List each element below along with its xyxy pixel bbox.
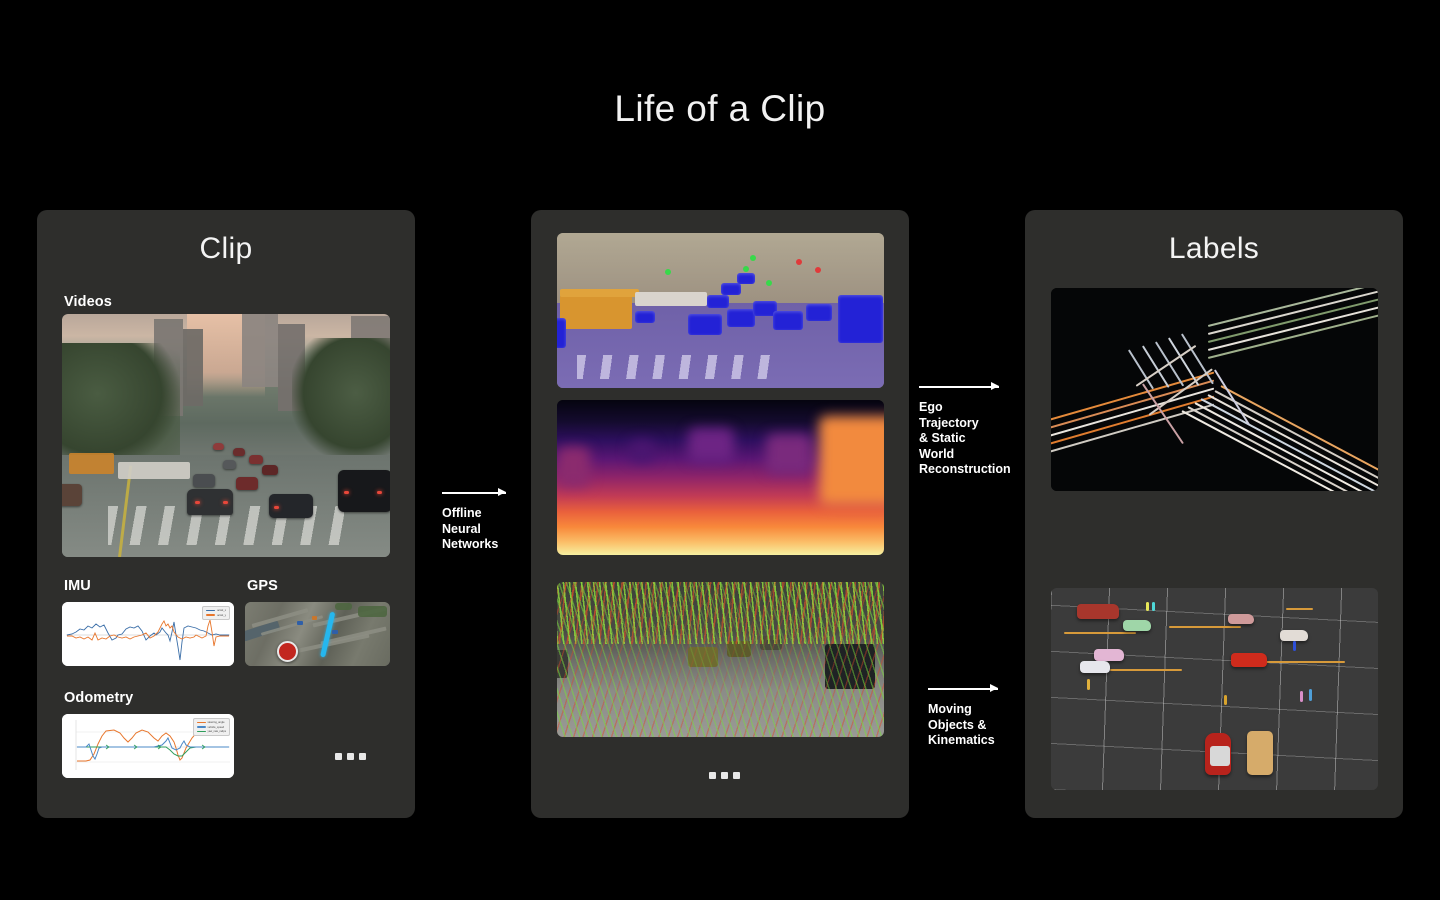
media-moving-objects[interactable] xyxy=(1051,588,1378,790)
ellipsis-dot-1 xyxy=(709,772,716,779)
objects-artwork xyxy=(1051,588,1378,790)
arrow-caption-moving-objects: Moving Objects & Kinematics xyxy=(928,702,998,749)
depth-artwork xyxy=(557,400,884,555)
lane-artwork xyxy=(1051,288,1378,491)
media-odometry-plot[interactable]: steering_angle vehicle_speed yaw_rate_ra… xyxy=(62,714,234,778)
clip-more-indicator[interactable] xyxy=(335,753,366,760)
arrow-icon xyxy=(442,487,506,497)
optical-flow-artwork xyxy=(557,582,884,737)
section-label-imu: IMU xyxy=(64,578,91,594)
panel-clip-title: Clip xyxy=(37,232,415,266)
segmentation-artwork xyxy=(557,233,884,388)
arrow-icon xyxy=(928,683,998,693)
odometry-chart: steering_angle vehicle_speed yaw_rate_ra… xyxy=(62,714,234,778)
odometry-legend: steering_angle vehicle_speed yaw_rate_ra… xyxy=(193,718,230,736)
arrow-offline-neural-networks: Offline Neural Networks xyxy=(442,487,506,553)
imu-legend-label-1: accel_y xyxy=(217,614,226,617)
odometry-legend-label-2: yaw_rate_radps xyxy=(208,730,226,733)
panel-labels-title: Labels xyxy=(1025,232,1403,266)
panel-intermediate xyxy=(531,210,909,818)
arrow-moving-objects: Moving Objects & Kinematics xyxy=(928,683,998,749)
page-title: Life of a Clip xyxy=(0,88,1440,130)
ellipsis-dot-2 xyxy=(721,772,728,779)
panel-clip: Clip Videos xyxy=(37,210,415,818)
section-label-gps: GPS xyxy=(247,578,278,594)
arrow-caption-offline-neural-networks: Offline Neural Networks xyxy=(442,506,506,553)
ellipsis-dot-3 xyxy=(733,772,740,779)
imu-chart: accel_x accel_y xyxy=(62,602,234,666)
section-label-videos: Videos xyxy=(64,294,112,310)
odometry-legend-label-0: steering_angle xyxy=(208,721,225,724)
ellipsis-dot-3 xyxy=(359,753,366,760)
media-lane-reconstruction[interactable] xyxy=(1051,288,1378,491)
panel-labels: Labels xyxy=(1025,210,1403,818)
street-scene-artwork xyxy=(62,314,390,557)
media-segmentation[interactable] xyxy=(557,233,884,388)
ellipsis-dot-1 xyxy=(335,753,342,760)
arrow-ego-trajectory: Ego Trajectory & Static World Reconstruc… xyxy=(919,381,999,478)
media-depth-map[interactable] xyxy=(557,400,884,555)
intermediate-more-indicator[interactable] xyxy=(709,772,740,779)
arrow-caption-ego-trajectory: Ego Trajectory & Static World Reconstruc… xyxy=(919,400,999,478)
media-gps-map[interactable] xyxy=(245,602,390,666)
arrow-icon xyxy=(919,381,999,391)
media-optical-flow[interactable] xyxy=(557,582,884,737)
gps-satellite-artwork xyxy=(245,602,390,666)
media-imu-plot[interactable]: accel_x accel_y xyxy=(62,602,234,666)
media-dashcam-video[interactable] xyxy=(62,314,390,557)
ellipsis-dot-2 xyxy=(347,753,354,760)
odometry-legend-label-1: vehicle_speed xyxy=(208,726,225,729)
section-label-odometry: Odometry xyxy=(64,690,133,706)
imu-legend: accel_x accel_y xyxy=(202,606,230,620)
imu-legend-label-0: accel_x xyxy=(217,609,226,612)
